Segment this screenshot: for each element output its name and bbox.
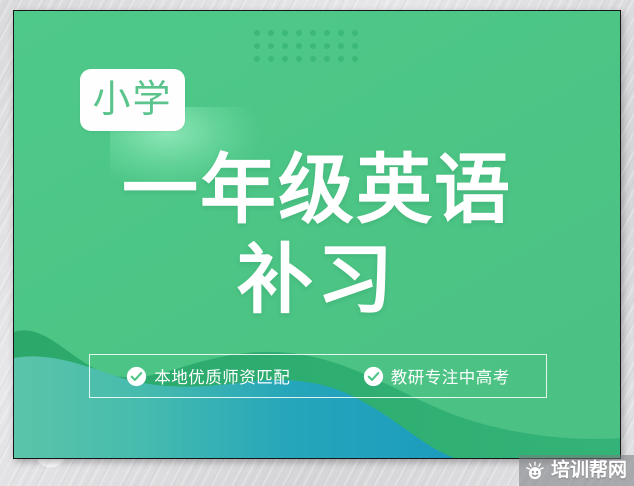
dot [268, 30, 274, 36]
watermark: 培训帮网 [519, 455, 634, 486]
level-tag-badge: 小学 [80, 69, 185, 131]
headline-line-1: 一年级英语 [14, 147, 620, 235]
dot [296, 56, 302, 62]
feature-item-1: 教研专注中高考 [363, 364, 510, 388]
level-tag-label: 小学 [92, 81, 172, 119]
dot [352, 30, 358, 36]
dot [282, 56, 288, 62]
dot [254, 30, 260, 36]
dot [254, 56, 260, 62]
feature-item-0: 本地优质师资匹配 [126, 364, 290, 388]
dot [324, 43, 330, 49]
dot [310, 43, 316, 49]
dot-grid-icon [254, 30, 366, 69]
dot [282, 30, 288, 36]
watermark-label: 培训帮网 [551, 461, 627, 480]
page-title: 一年级英语 补习 [14, 147, 620, 325]
dot [268, 56, 274, 62]
dot [296, 30, 302, 36]
dot [352, 56, 358, 62]
dot [310, 30, 316, 36]
headline-line-2: 补习 [14, 237, 620, 325]
dot [352, 43, 358, 49]
feature-label-1: 教研专注中高考 [391, 364, 510, 388]
feature-bar: 本地优质师资匹配 教研专注中高考 [89, 354, 547, 398]
check-circle-icon [126, 366, 147, 387]
dot [324, 30, 330, 36]
feature-label-0: 本地优质师资匹配 [154, 364, 290, 388]
dot [282, 43, 288, 49]
dot [310, 56, 316, 62]
page-backdrop: 小学 一年级英语 补习 [0, 0, 634, 486]
dot [338, 56, 344, 62]
dot [338, 43, 344, 49]
sun-face-logo-icon [525, 461, 545, 481]
dot [324, 56, 330, 62]
dot [338, 30, 344, 36]
dot [296, 43, 302, 49]
check-circle-icon [363, 366, 384, 387]
dot [268, 43, 274, 49]
dot [254, 43, 260, 49]
course-poster-card: 小学 一年级英语 补习 [13, 10, 621, 459]
